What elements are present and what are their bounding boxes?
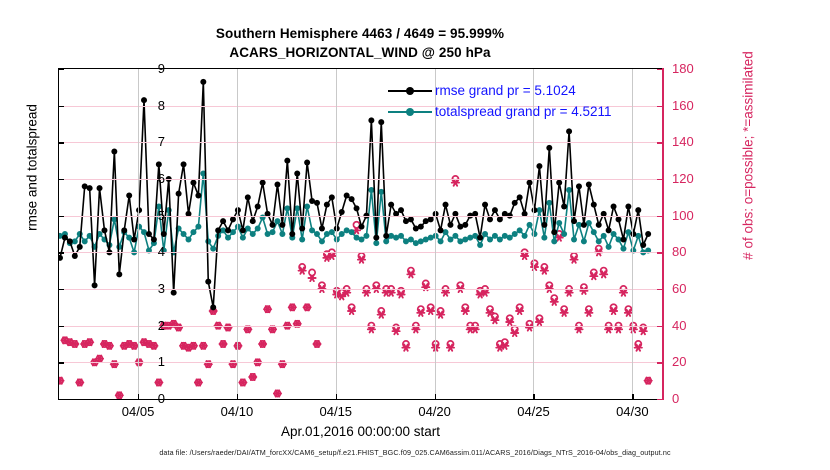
vertical-gridline [632,69,633,399]
x-axis-tick [533,394,534,400]
y-axis-left-tick-label: 4 [125,244,165,259]
x-axis-tick [138,394,139,400]
y-axis-right-tick-label: 80 [672,244,718,259]
y-axis-left-tick [58,399,64,400]
x-axis-tick [237,394,238,400]
y-axis-right-tick [657,106,663,107]
y-axis-right-tick [657,216,663,217]
x-axis-tick-label: 04/20 [418,404,451,419]
y-axis-right-tick-label: 20 [672,354,718,369]
y-axis-left-tick [58,106,64,107]
y-axis-right-tick-label: 120 [672,171,718,186]
y-axis-left-label: rmse and totalspread [25,48,40,288]
y-axis-left-tick [58,179,64,180]
legend-item-totalspread[interactable]: totalspread grand pr = 4.5211 [388,101,612,122]
y-axis-left-tick-label: 2 [125,318,165,333]
y-axis-left-tick [58,216,64,217]
y-axis-right-tick-label: 140 [672,134,718,149]
y-axis-left-tick-label: 8 [125,98,165,113]
x-axis-tick-label: 04/30 [616,404,649,419]
y-axis-left-tick [58,69,64,70]
y-axis-right-tick [657,179,663,180]
chart-title-line-1: Southern Hemisphere 4463 / 4649 = 95.999… [0,24,720,43]
y-axis-right-tick-label: 60 [672,281,718,296]
x-axis-label: Apr.01,2016 00:00:00 start [58,424,663,439]
y-axis-right-tick [657,252,663,253]
vertical-gridline [138,69,139,399]
y-axis-left-tick [58,142,64,143]
y-axis-right-tick [657,326,663,327]
y-axis-right-tick-label: 100 [672,208,718,223]
x-axis-tick-label: 04/25 [517,404,550,419]
vertical-gridline [336,69,337,399]
y-axis-right-label: # of obs: o=possible; *=assimilated [741,16,756,296]
y-axis-right-tick-label: 180 [672,61,718,76]
x-axis-tick [632,394,633,400]
legend-marker-totalspread [388,106,432,118]
y-axis-left-tick-label: 7 [125,134,165,149]
y-axis-right-tick [657,362,663,363]
legend-label-rmse: rmse grand pr = 5.1024 [435,83,576,98]
y-axis-left-tick [58,289,64,290]
data-file-caption: data file: /Users/raeder/DAI/ATM_forcXX/… [0,448,830,457]
vertical-gridline [237,69,238,399]
x-axis-tick-label: 04/15 [320,404,353,419]
y-axis-left-tick-label: 5 [125,208,165,223]
legend-item-rmse[interactable]: rmse grand pr = 5.1024 [388,80,612,101]
y-axis-left-tick-label: 1 [125,354,165,369]
y-axis-left-tick [58,326,64,327]
y-axis-left-tick-label: 6 [125,171,165,186]
legend-label-totalspread: totalspread grand pr = 4.5211 [435,104,612,119]
figure-canvas: Southern Hemisphere 4463 / 4649 = 95.999… [0,0,830,470]
y-axis-right-tick [657,399,663,400]
y-axis-right-tick [657,289,663,290]
y-axis-right-tick-label: 160 [672,98,718,113]
x-axis-tick [435,394,436,400]
x-axis-tick-label: 04/10 [221,404,254,419]
legend-marker-rmse [388,85,432,97]
y-axis-left-tick-label: 9 [125,61,165,76]
chart-title-line-2: ACARS_HORIZONTAL_WIND @ 250 hPa [0,43,720,62]
y-axis-left-tick [58,252,64,253]
y-axis-right-tick [657,69,663,70]
chart-title: Southern Hemisphere 4463 / 4649 = 95.999… [0,24,720,62]
y-axis-right-tick-label: 0 [672,391,718,406]
y-axis-left-tick [58,362,64,363]
y-axis-left-tick-label: 3 [125,281,165,296]
y-axis-right-tick [657,142,663,143]
legend[interactable]: rmse grand pr = 5.1024 totalspread grand… [386,78,616,124]
x-axis-tick-label: 04/05 [122,404,155,419]
right-axis-spine [662,68,664,400]
y-axis-right-tick-label: 40 [672,318,718,333]
x-axis-tick [336,394,337,400]
